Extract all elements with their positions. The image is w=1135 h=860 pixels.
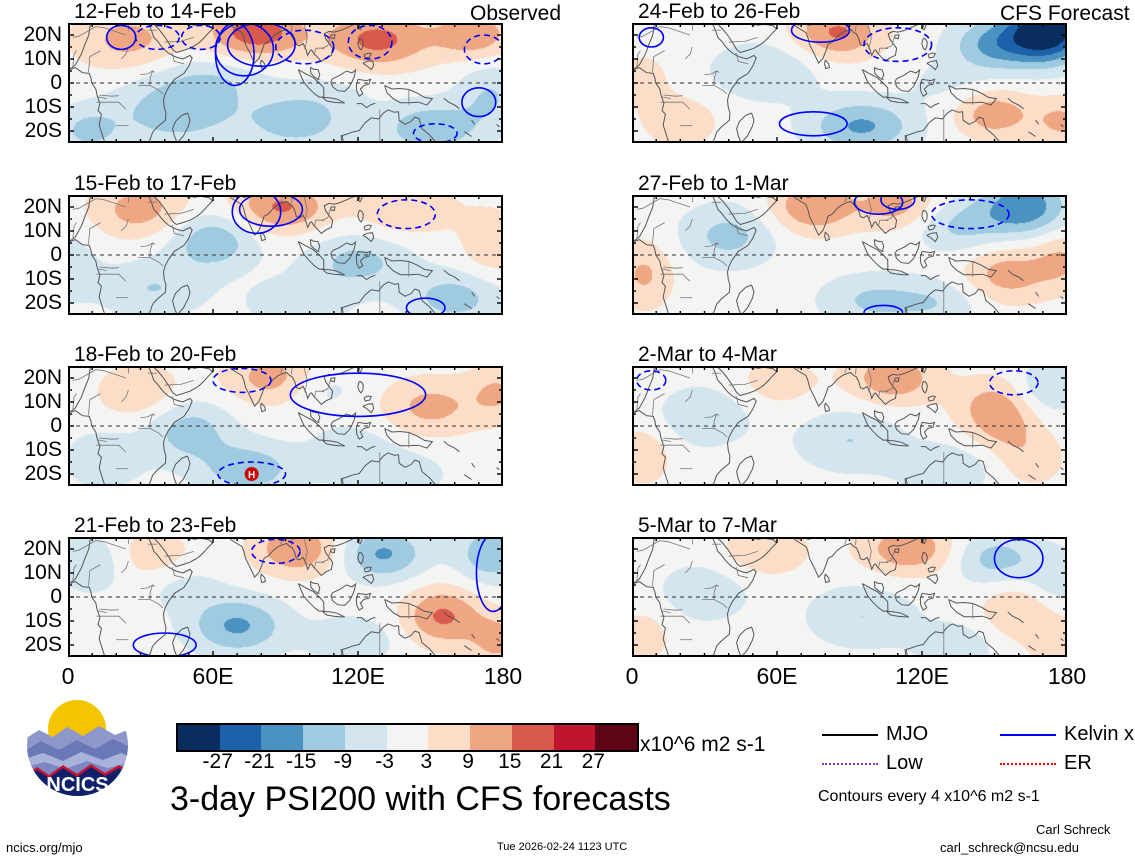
- map-panel: [68, 195, 503, 315]
- map-overlay: [632, 23, 1067, 143]
- legend-line-low: [822, 763, 878, 765]
- kelvin-contour: [182, 25, 221, 49]
- colorbar-segment: [512, 725, 555, 750]
- y-axis-tick-label: 10N: [0, 219, 62, 243]
- contour-interval-note: Contours every 4 x10^6 m2 s-1: [818, 788, 1040, 806]
- colorbar-units-label: x10^6 m2 s-1: [640, 733, 765, 757]
- legend-label: ER: [1064, 752, 1092, 775]
- map-overlay: [68, 195, 503, 315]
- x-axis-tick-label: 0: [604, 663, 660, 690]
- colorbar-segment: [220, 725, 263, 750]
- timestamp: Tue 2026-02-24 1123 UTC: [497, 841, 627, 853]
- y-axis-tick-label: 10S: [0, 609, 62, 633]
- y-axis-tick-label: 10N: [0, 561, 62, 585]
- kelvin-contour: [228, 23, 296, 66]
- kelvin-contour: [377, 200, 435, 229]
- colorbar-segment: [595, 725, 637, 750]
- legend-line-er: [1000, 763, 1056, 765]
- kelvin-contour: [864, 28, 932, 62]
- legend-line-kelvin-x2: [1000, 734, 1056, 736]
- y-axis-tick-label: 10S: [0, 267, 62, 291]
- kelvin-contour: [995, 539, 1043, 577]
- y-axis-tick-label: 0: [0, 243, 62, 267]
- y-axis-tick-label: 20N: [0, 366, 62, 390]
- y-axis-tick-label: 20N: [0, 195, 62, 219]
- kelvin-contour: [854, 195, 902, 214]
- site-link[interactable]: ncics.org/mjo: [6, 840, 83, 855]
- y-axis-tick-label: 0: [0, 585, 62, 609]
- kelvin-contour: [780, 112, 848, 136]
- colorbar-segment: [345, 725, 388, 750]
- x-axis-tick-label: 0: [40, 663, 96, 690]
- author-email[interactable]: carl_schreck@ncsu.edu: [940, 840, 1079, 855]
- tropical-cyclone-marker: H: [245, 467, 259, 481]
- colorbar-segment: [554, 725, 597, 750]
- panel-title: 18-Feb to 20-Feb: [74, 343, 236, 367]
- kelvin-contour: [462, 88, 496, 117]
- page-title: 3-day PSI200 with CFS forecasts: [170, 780, 671, 819]
- panel-title: 2-Mar to 4-Mar: [638, 343, 777, 367]
- y-axis-tick-label: 10N: [0, 47, 62, 71]
- map-overlay: [632, 537, 1067, 657]
- x-axis-tick-label: 120E: [894, 663, 950, 690]
- svg-text:H: H: [248, 470, 255, 481]
- ncics-logo: NCICS: [25, 693, 130, 798]
- x-axis-tick-label: 60E: [185, 663, 241, 690]
- kelvin-contour: [232, 195, 280, 233]
- map-overlay: [68, 23, 503, 143]
- panel-title: 24-Feb to 26-Feb: [638, 0, 800, 24]
- map-overlay: [632, 195, 1067, 315]
- kelvin-contour: [792, 23, 850, 42]
- kelvin-contour: [136, 25, 180, 49]
- legend-line-mjo: [822, 734, 878, 736]
- y-axis-tick-label: 0: [0, 414, 62, 438]
- y-axis-tick-label: 20S: [0, 462, 62, 486]
- map-panel: [632, 195, 1067, 315]
- map-overlay: H: [68, 366, 503, 486]
- colorbar-segment: [178, 725, 221, 750]
- kelvin-contour: [990, 371, 1038, 395]
- colorbar-segment: [303, 725, 346, 750]
- legend-label: MJO: [886, 723, 928, 746]
- column-label-observed: Observed: [470, 2, 561, 26]
- colorbar-segment: [470, 725, 513, 750]
- kelvin-contour: [476, 537, 503, 611]
- kelvin-contour: [107, 25, 136, 49]
- y-axis-tick-label: 20S: [0, 633, 62, 657]
- x-axis-tick-label: 180: [475, 663, 531, 690]
- kelvin-contour: [864, 305, 903, 315]
- colorbar: [176, 723, 639, 752]
- legend-label: Low: [886, 752, 923, 775]
- legend-label: Kelvin x2: [1064, 723, 1135, 746]
- x-axis-tick-label: 180: [1039, 663, 1095, 690]
- y-axis-tick-label: 10N: [0, 390, 62, 414]
- panel-title: 12-Feb to 14-Feb: [74, 0, 236, 24]
- map-overlay: [68, 537, 503, 657]
- colorbar-segment: [261, 725, 304, 750]
- map-panel: H: [68, 366, 503, 486]
- x-axis-tick-label: 120E: [330, 663, 386, 690]
- map-panel: [632, 366, 1067, 486]
- panel-title: 15-Feb to 17-Feb: [74, 172, 236, 196]
- kelvin-contour: [406, 298, 445, 315]
- map-panel: [632, 537, 1067, 657]
- y-axis-tick-label: 0: [0, 71, 62, 95]
- colorbar-segment: [387, 725, 430, 750]
- author-name: Carl Schreck: [1036, 822, 1110, 837]
- y-axis-tick-label: 20N: [0, 23, 62, 47]
- kelvin-contour: [932, 200, 1009, 229]
- kelvin-contour: [213, 368, 271, 392]
- panel-title: 27-Feb to 1-Mar: [638, 172, 789, 196]
- y-axis-tick-label: 20S: [0, 291, 62, 315]
- y-axis-tick-label: 10S: [0, 95, 62, 119]
- kelvin-contour: [215, 23, 273, 76]
- logo-text: NCICS: [46, 774, 108, 796]
- kelvin-contour: [414, 124, 458, 143]
- kelvin-contour: [348, 25, 392, 59]
- map-panel: [68, 23, 503, 143]
- column-label-forecast: CFS Forecast: [1000, 2, 1130, 26]
- y-axis-tick-label: 10S: [0, 438, 62, 462]
- panel-title: 5-Mar to 7-Mar: [638, 514, 777, 538]
- x-axis-tick-label: 60E: [749, 663, 805, 690]
- y-axis-tick-label: 20S: [0, 119, 62, 143]
- map-panel: [68, 537, 503, 657]
- kelvin-contour: [252, 539, 300, 563]
- panel-title: 21-Feb to 23-Feb: [74, 514, 236, 538]
- map-panel: [632, 23, 1067, 143]
- map-overlay: [632, 366, 1067, 486]
- colorbar-tick-label: 27: [568, 750, 618, 774]
- y-axis-tick-label: 20N: [0, 537, 62, 561]
- kelvin-contour: [290, 373, 425, 416]
- colorbar-segment: [428, 725, 471, 750]
